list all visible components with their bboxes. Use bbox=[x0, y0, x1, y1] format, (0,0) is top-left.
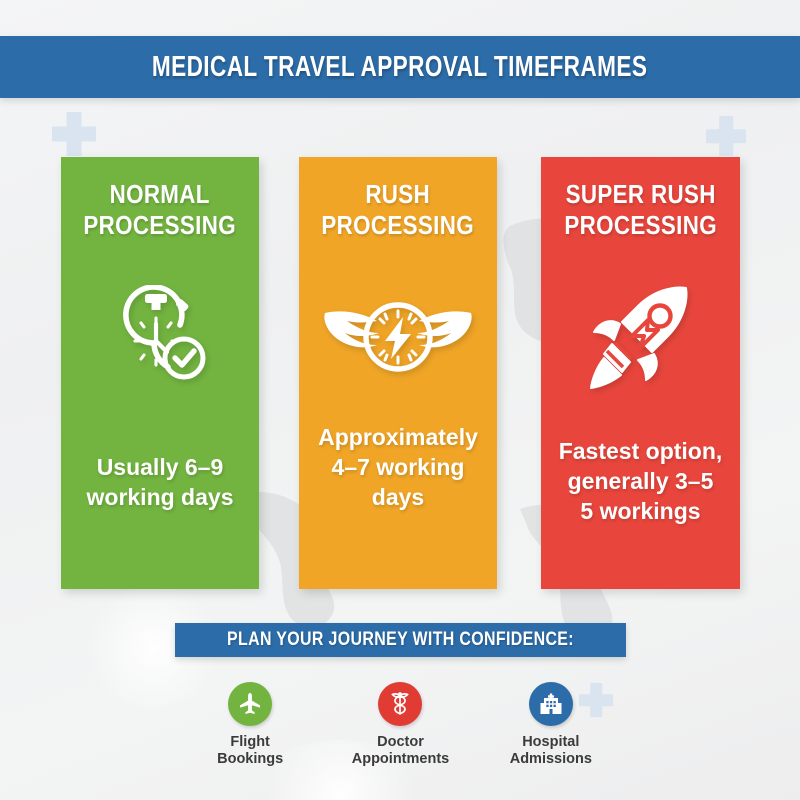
card-normal-processing[interactable]: NORMAL PROCESSING bbox=[61, 157, 259, 589]
footer-services-group: Flight Bookings Doctor Appointments bbox=[175, 682, 626, 769]
rocket-icon bbox=[582, 278, 700, 396]
hospital-icon bbox=[529, 682, 573, 726]
card-title: NORMAL PROCESSING bbox=[84, 179, 237, 240]
plus-cross-icon bbox=[706, 116, 746, 156]
caduceus-icon bbox=[378, 682, 422, 726]
page-title: MEDICAL TRAVEL APPROVAL TIMEFRAMES bbox=[152, 51, 647, 84]
footer-item-label: Hospital Admissions bbox=[510, 734, 592, 769]
winged-clock-lightning-icon bbox=[323, 278, 473, 396]
infographic-canvas: MEDICAL TRAVEL APPROVAL TIMEFRAMES NORMA… bbox=[0, 0, 800, 800]
card-description: Approximately 4–7 working days bbox=[309, 423, 487, 513]
card-title: SUPER RUSH PROCESSING bbox=[564, 179, 717, 240]
header-banner: MEDICAL TRAVEL APPROVAL TIMEFRAMES bbox=[0, 36, 800, 98]
airplane-icon bbox=[228, 682, 272, 726]
footer-item-label: Flight Bookings bbox=[217, 734, 283, 769]
footer-item-hospital[interactable]: Hospital Admissions bbox=[481, 682, 621, 769]
card-title: RUSH PROCESSING bbox=[322, 179, 475, 240]
footer-banner-title: PLAN YOUR JOURNEY WITH CONFIDENCE: bbox=[227, 629, 574, 651]
processing-options-group: NORMAL PROCESSING bbox=[0, 157, 800, 589]
card-description: Fastest option, generally 3–5 5 workings bbox=[559, 437, 723, 527]
footer-banner: PLAN YOUR JOURNEY WITH CONFIDENCE: bbox=[175, 623, 626, 657]
card-super-rush-processing[interactable]: SUPER RUSH PROCESSING Fastest o bbox=[541, 157, 740, 589]
stopwatch-check-icon bbox=[108, 278, 212, 396]
footer-item-doctor[interactable]: Doctor Appointments bbox=[330, 682, 470, 769]
card-description: Usually 6–9 working days bbox=[87, 453, 234, 513]
footer-item-label: Doctor Appointments bbox=[352, 734, 449, 769]
plus-cross-icon bbox=[52, 112, 96, 156]
card-rush-processing[interactable]: RUSH PROCESSING bbox=[299, 157, 497, 589]
footer-item-flight[interactable]: Flight Bookings bbox=[180, 682, 320, 769]
